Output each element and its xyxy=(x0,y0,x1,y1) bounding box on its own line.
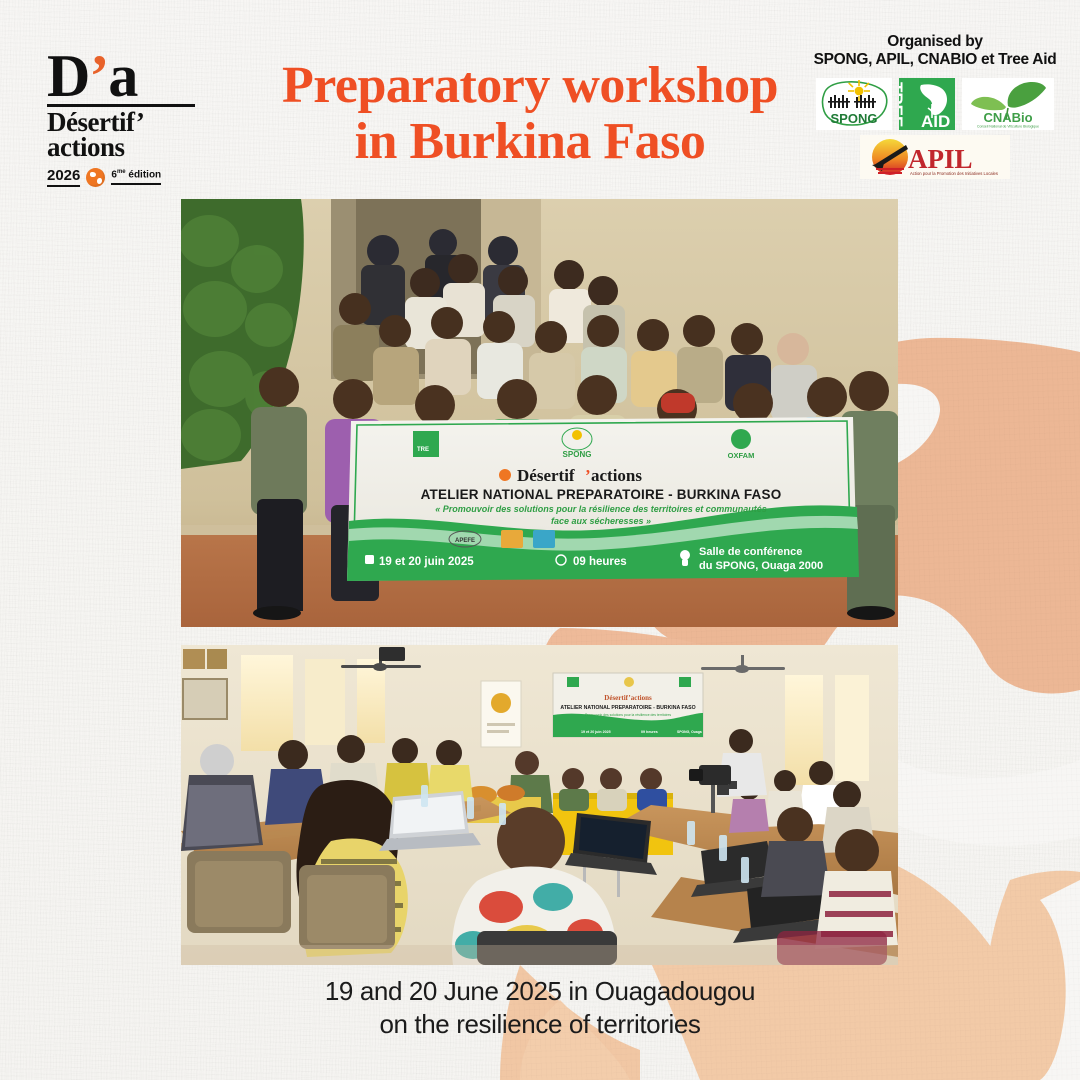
tree-aid-logo: TREE AID xyxy=(899,78,955,130)
brand-logo-a: a xyxy=(108,43,137,109)
svg-text:’: ’ xyxy=(585,466,591,485)
brand-logo-apostrophe: ’ xyxy=(89,43,108,109)
poster-canvas: D’a Désertif’ actions 2026 6me édition P… xyxy=(0,0,1080,1080)
svg-text:09 heures: 09 heures xyxy=(573,556,627,568)
svg-text:AID: AID xyxy=(921,112,950,130)
svg-text:Action pour la Promotion des I: Action pour la Promotion des Initiatives… xyxy=(910,171,998,176)
brand-logo: D’a Désertif’ actions 2026 6me édition xyxy=(47,52,195,187)
svg-text:face aux sécheresses »: face aux sécheresses » xyxy=(551,516,651,526)
organisers-block: Organised by SPONG, APIL, CNABIO et Tree… xyxy=(806,33,1064,179)
svg-text:« Promouvoir des solutions pou: « Promouvoir des solutions pour la résil… xyxy=(435,504,767,514)
page-title-line2: in Burkina Faso xyxy=(230,114,830,170)
svg-text:SPONG: SPONG xyxy=(563,450,592,459)
svg-text:OXFAM: OXFAM xyxy=(728,451,755,460)
group-photo: TRE SPONG OXFAM Désertif ’ actions ATELI… xyxy=(181,199,898,627)
event-caption-line2: on the resilience of territories xyxy=(180,1008,900,1041)
svg-text:Conseil National de Viticultur: Conseil National de Viticulture Biologiq… xyxy=(977,124,1039,128)
svg-text:SPONG: SPONG xyxy=(831,111,878,126)
svg-text:TRE: TRE xyxy=(417,447,429,453)
page-title: Preparatory workshop in Burkina Faso xyxy=(230,58,830,170)
brand-logo-year: 2026 xyxy=(47,167,80,187)
event-caption: 19 and 20 June 2025 in Ouagadougou on th… xyxy=(180,975,900,1042)
svg-text:19 et 20 juin 2025: 19 et 20 juin 2025 xyxy=(379,556,474,568)
brand-logo-footer: 2026 6me édition xyxy=(47,167,195,187)
svg-text:CNABio: CNABio xyxy=(983,110,1032,125)
cnabio-logo: CNABio Conseil National de Viticulture B… xyxy=(962,78,1054,130)
apil-logo: APIL Action pour la Promotion des Initia… xyxy=(860,135,1010,179)
svg-text:actions: actions xyxy=(591,466,642,485)
svg-text:SPONG, Ouaga: SPONG, Ouaga xyxy=(677,730,702,734)
svg-text:19 et 20 juin 2025: 19 et 20 juin 2025 xyxy=(581,730,611,734)
brand-logo-actions: actions xyxy=(47,134,195,161)
spong-logo: SPONG xyxy=(816,78,892,130)
svg-text:APEFE: APEFE xyxy=(455,538,475,544)
group-photo-banner: TRE SPONG OXFAM Désertif ’ actions ATELI… xyxy=(347,417,859,581)
globe-icon xyxy=(86,168,105,187)
svg-text:Désertif: Désertif xyxy=(517,466,575,485)
page-title-line1: Preparatory workshop xyxy=(230,58,830,114)
event-caption-line1: 19 and 20 June 2025 in Ouagadougou xyxy=(180,975,900,1008)
brand-logo-edition: 6me édition xyxy=(111,169,161,185)
apil-logo-row: APIL Action pour la Promotion des Initia… xyxy=(806,135,1064,179)
svg-text:ATELIER NATIONAL PREPARATOIRE: ATELIER NATIONAL PREPARATOIRE - BURKINA … xyxy=(421,487,782,502)
svg-text:du SPONG, Ouaga 2000: du SPONG, Ouaga 2000 xyxy=(699,560,823,572)
organisers-label-line1: Organised by xyxy=(806,33,1064,51)
svg-text:Promouvoir des solutions pour: Promouvoir des solutions pour la résilie… xyxy=(585,713,671,717)
svg-text:09 heures: 09 heures xyxy=(641,730,658,734)
svg-text:Salle de conférence: Salle de conférence xyxy=(699,546,802,558)
conference-room-photo: Désertif’actions ATELIER NATIONAL PREPAR… xyxy=(181,645,898,965)
svg-text:TREE: TREE xyxy=(899,82,906,127)
brand-logo-mark: D’a xyxy=(47,52,195,101)
svg-text:APIL: APIL xyxy=(908,144,973,174)
organisers-label-line2: SPONG, APIL, CNABIO et Tree Aid xyxy=(806,51,1064,69)
svg-text:ATELIER NATIONAL PREPARATOIRE: ATELIER NATIONAL PREPARATOIRE - BURKINA … xyxy=(560,705,695,711)
organisers-logo-row: SPONG TREE AID xyxy=(806,78,1064,130)
svg-text:Désertif’actions: Désertif’actions xyxy=(604,694,652,702)
brand-logo-d: D xyxy=(47,43,89,109)
